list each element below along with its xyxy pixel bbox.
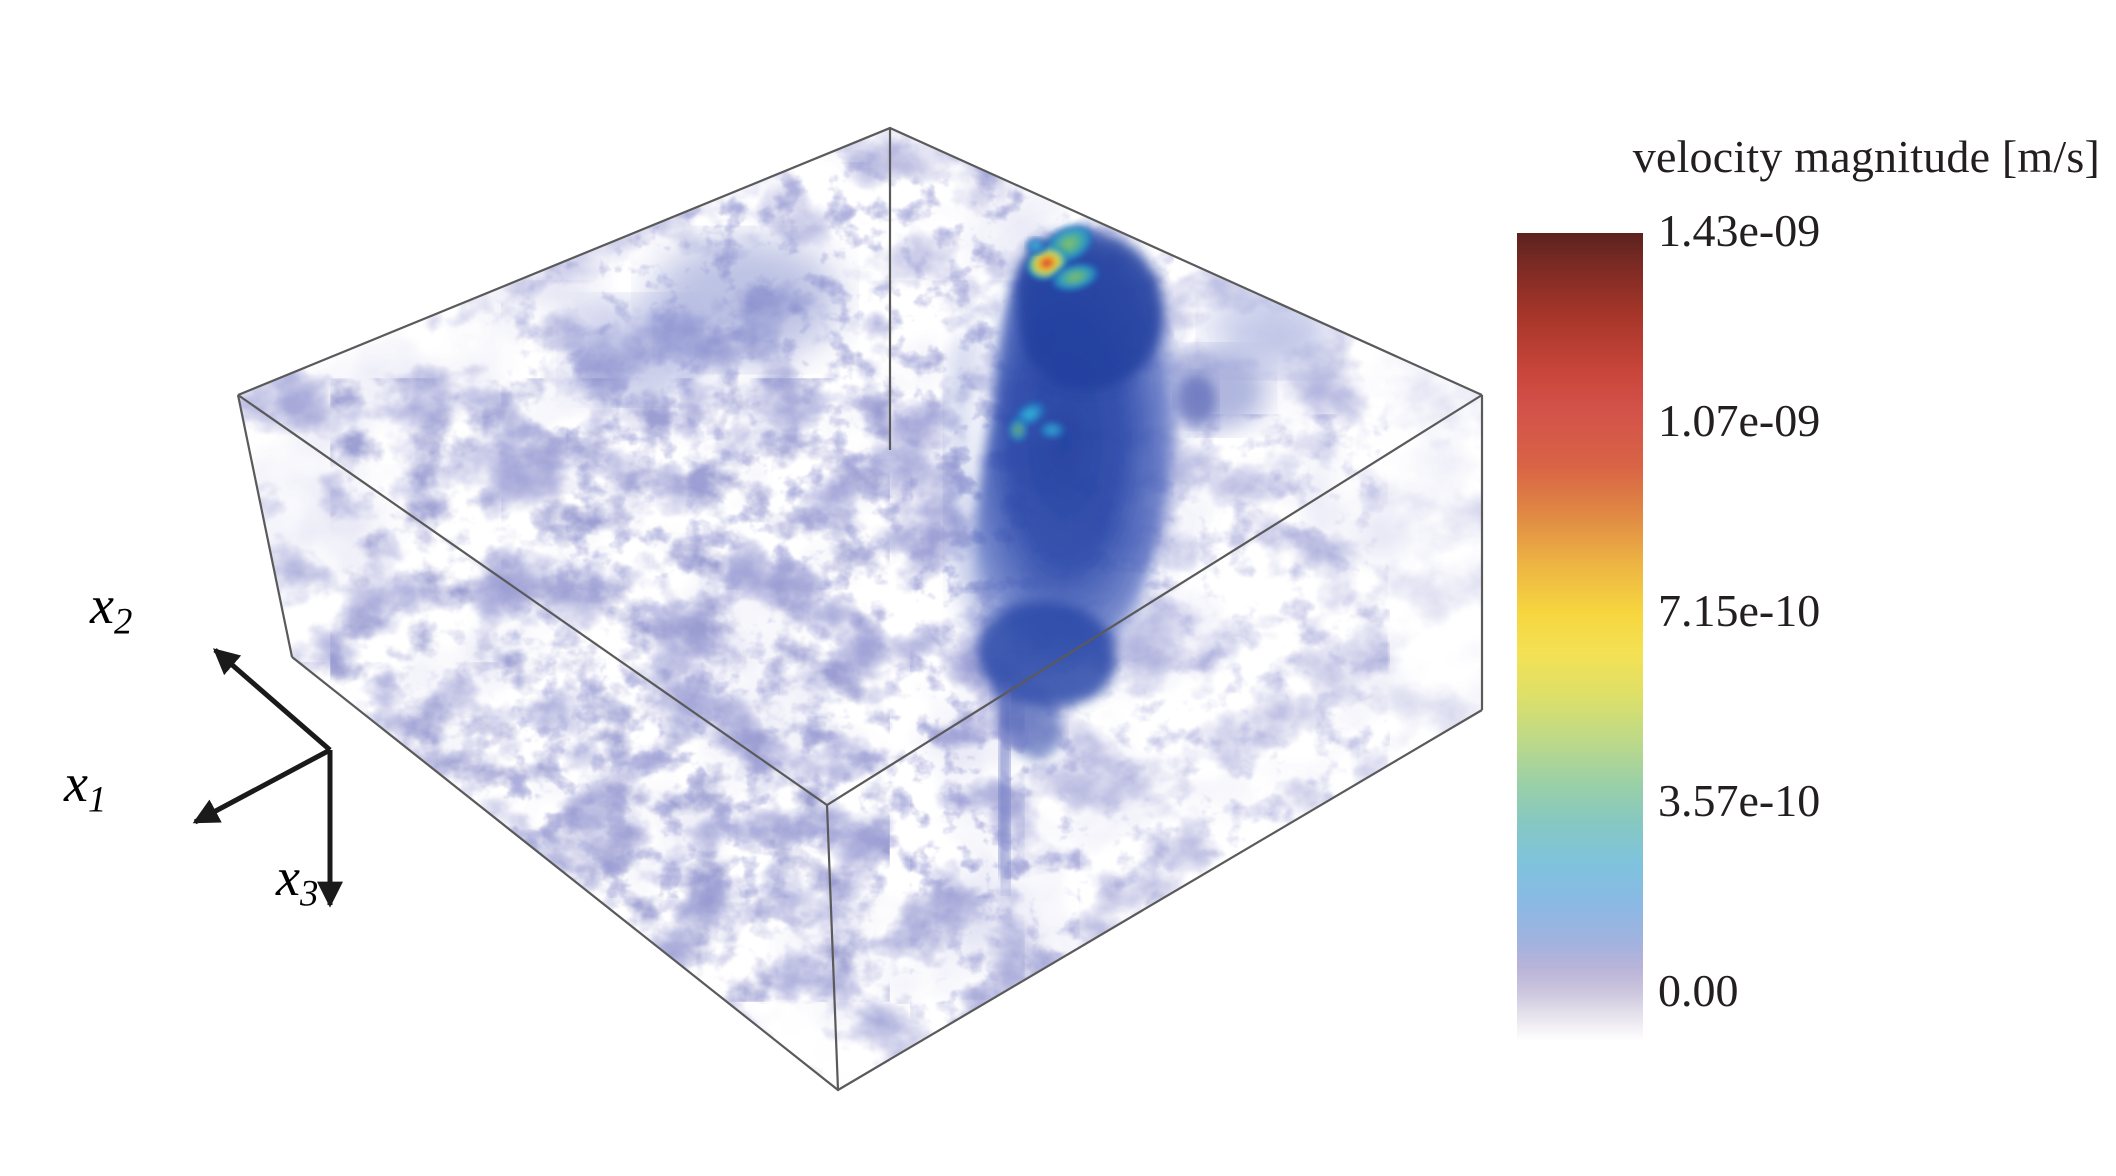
colorbar-gradient	[1517, 233, 1643, 1041]
axis-triad: x2 x1 x3	[60, 560, 480, 980]
axis-arrow-x2	[215, 650, 330, 750]
colorbar-tick-label-3: 7.15e-10	[1658, 588, 1820, 634]
axis-label-x1: x1	[64, 756, 106, 818]
colorbar: velocity magnitude [m/s] 1.43e-09 1.07e-…	[1500, 130, 2116, 1080]
figure-canvas: x2 x1 x3 velocity magnitude [m/s] 1.43e-…	[0, 0, 2116, 1176]
colorbar-tick-label-2: 3.57e-10	[1658, 778, 1820, 824]
colorbar-tick-label-max: 1.43e-09	[1658, 208, 1820, 254]
colorbar-tick-label-min: 0.00	[1658, 968, 1739, 1014]
axis-label-x3: x3	[276, 850, 318, 912]
diffuse-blob-top-mid	[570, 302, 710, 398]
diffuse-blob-upper-right	[1208, 288, 1332, 372]
axis-label-x2: x2	[90, 578, 132, 640]
axis-arrow-x1	[195, 750, 330, 822]
descending-filament	[999, 700, 1010, 878]
colorbar-title: velocity magnitude [m/s]	[1380, 130, 2100, 183]
colorbar-tick-label-4: 1.07e-09	[1658, 398, 1820, 444]
